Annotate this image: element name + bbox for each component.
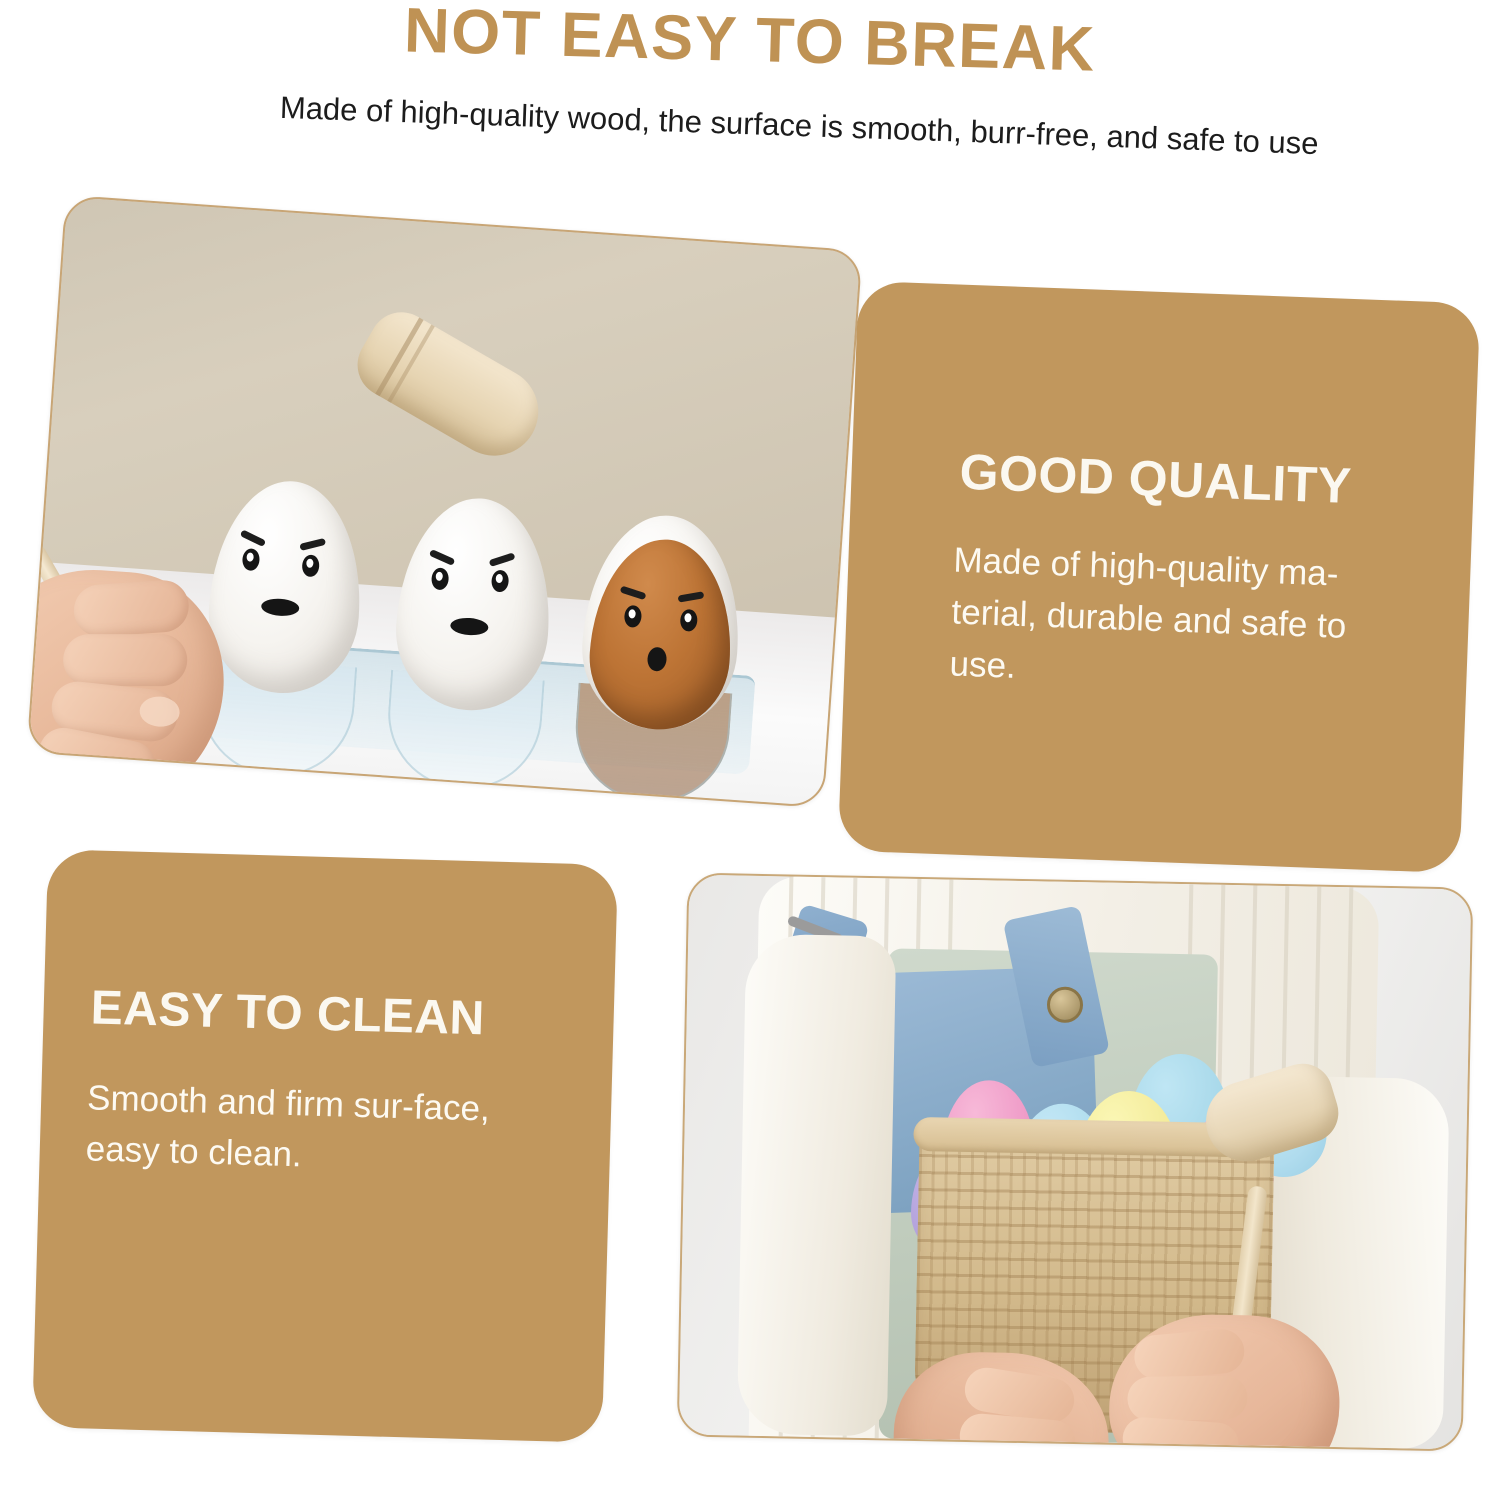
feature-body-good-quality: Made of high-quality ma-terial, durable … <box>949 534 1424 707</box>
sweater-sleeve <box>737 934 897 1437</box>
eyebrow <box>429 549 456 566</box>
mouth <box>261 597 300 617</box>
eyebrow <box>678 591 705 602</box>
photo-scene <box>679 875 1472 1450</box>
eyebrow <box>620 586 647 601</box>
photo-eggs-with-mallet <box>26 195 862 808</box>
finger <box>1133 1328 1246 1381</box>
feature-card-good-quality: GOOD QUALITY Made of high-quality ma-ter… <box>838 281 1480 873</box>
eyebrow <box>299 538 326 551</box>
eyebrow <box>240 529 266 547</box>
feature-body-easy-to-clean: Smooth and firm sur-face, easy to clean. <box>85 1072 518 1186</box>
mouth <box>450 617 489 637</box>
photo-child-with-basket <box>677 873 1474 1452</box>
finger <box>72 578 190 638</box>
photo-scene <box>29 197 861 806</box>
feature-card-easy-to-clean: EASY TO CLEAN Smooth and firm sur-face, … <box>32 849 618 1443</box>
finger <box>1127 1375 1248 1421</box>
infographic-stage: NOT EASY TO BREAK Made of high-quality w… <box>0 0 1500 1496</box>
eye <box>431 567 449 590</box>
eye <box>624 605 642 628</box>
header: NOT EASY TO BREAK Made of high-quality w… <box>0 0 1500 215</box>
finger <box>63 634 187 686</box>
feature-title-good-quality: GOOD QUALITY <box>959 443 1353 515</box>
eye <box>680 609 698 632</box>
eye <box>491 570 509 593</box>
eye <box>242 548 260 571</box>
finger <box>1121 1416 1240 1449</box>
mouth <box>647 647 668 672</box>
feature-title-easy-to-clean: EASY TO CLEAN <box>90 980 486 1046</box>
page-subtitle: Made of high-quality wood, the surface i… <box>224 83 1375 169</box>
eyebrow <box>489 552 516 567</box>
eye <box>301 554 319 577</box>
